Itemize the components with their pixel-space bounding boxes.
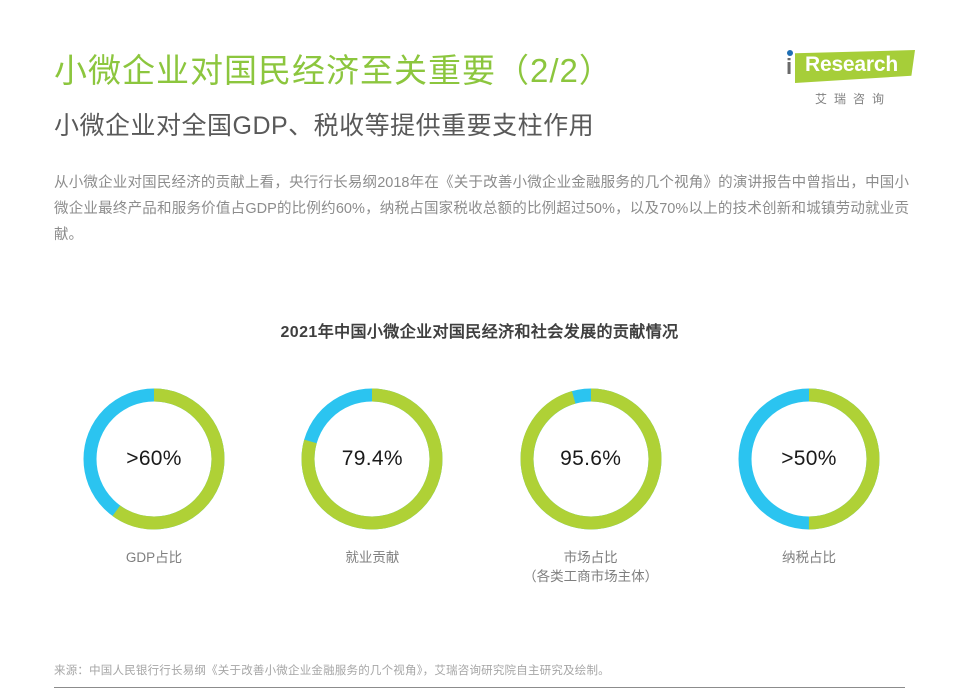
donut-category-label-employment: 就业贡献 [345, 548, 399, 567]
donut-value-label-tax: >50% [736, 386, 882, 532]
logo-letter-i: i [786, 54, 792, 80]
lead-paragraph: 从小微企业对国民经济的贡献上看，央行行长易纲2018年在《关于改善小微企业金融服… [54, 170, 909, 248]
donut-category-label-tax: 纳税占比 [782, 548, 836, 567]
iresearch-logo: i Research 艾瑞咨询 [779, 48, 915, 110]
donut-category-label-gdp: GDP占比 [126, 548, 182, 567]
logo-mark: i Research [779, 48, 915, 88]
footer-divider [54, 687, 905, 688]
slide-header: 小微企业对国民经济至关重要（2/2） 小微企业对全国GDP、税收等提供重要支柱作… [0, 0, 959, 160]
donut-ring-market-share: 95.6% [518, 386, 664, 532]
logo-chinese-name: 艾瑞咨询 [793, 90, 913, 107]
source-note: 来源：中国人民银行行长易纲《关于改善小微企业金融服务的几个视角》，艾瑞咨询研究院… [54, 662, 610, 678]
slide-root: 小微企业对国民经济至关重要（2/2） 小微企业对全国GDP、税收等提供重要支柱作… [0, 0, 959, 692]
donut-chart-gdp: >60% GDP占比 [54, 386, 254, 567]
donut-chart-row: >60% GDP占比 79.4% 就业贡献 95.6% 市 [54, 386, 909, 586]
donut-ring-employment: 79.4% [299, 386, 445, 532]
donut-ring-tax: >50% [736, 386, 882, 532]
chart-title: 2021年中国小微企业对国民经济和社会发展的贡献情况 [0, 318, 959, 342]
logo-wordmark: Research [805, 53, 898, 77]
page-title: 小微企业对国民经济至关重要（2/2） [54, 50, 613, 92]
donut-category-label-market-share: 市场占比 （各类工商市场主体） [523, 548, 658, 586]
page-subtitle: 小微企业对全国GDP、税收等提供重要支柱作用 [54, 109, 594, 143]
donut-chart-tax: >50% 纳税占比 [709, 386, 909, 567]
donut-value-label-employment: 79.4% [299, 386, 445, 532]
donut-chart-employment: 79.4% 就业贡献 [272, 386, 472, 567]
donut-chart-market-share: 95.6% 市场占比 （各类工商市场主体） [491, 386, 691, 586]
donut-ring-gdp: >60% [81, 386, 227, 532]
donut-value-label-gdp: >60% [81, 386, 227, 532]
donut-value-label-market-share: 95.6% [518, 386, 664, 532]
